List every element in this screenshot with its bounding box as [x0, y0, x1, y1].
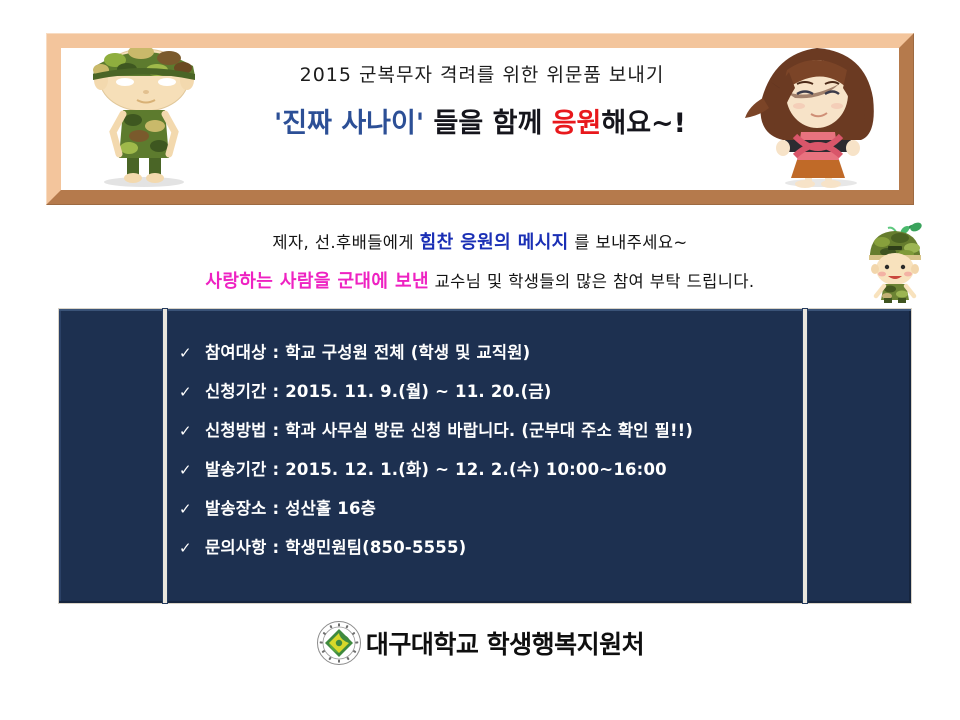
info-box-divider-left	[163, 309, 167, 603]
list-item: ✓ 문의사항 : 학생민원팀(850-5555)	[179, 534, 791, 573]
info-box: ✓ 참여대상 : 학교 구성원 전체 (학생 및 교직원) ✓ 신청기간 : 2…	[58, 308, 912, 604]
banner-line2-post: 해요~!	[601, 108, 686, 139]
list-item: ✓ 참여대상 : 학교 구성원 전체 (학생 및 교직원)	[179, 339, 791, 378]
banner-frame: 2015 군복무자 격려를 위한 위문품 보내기 '진짜 사나이' 들을 함께 …	[46, 33, 914, 205]
list-item-label: 발송기간 : 2015. 12. 1.(화) ~ 12. 2.(수) 10:00…	[205, 456, 667, 480]
check-icon: ✓	[179, 424, 205, 439]
list-item-label: 참여대상 : 학교 구성원 전체 (학생 및 교직원)	[205, 339, 530, 363]
subtitle-line-1-emphasis: 힘찬 응원의 메시지	[420, 232, 569, 253]
subtitle-line-1: 제자, 선.후배들에게 힘찬 응원의 메시지 를 보내주세요~	[0, 228, 960, 254]
list-item: ✓ 신청방법 : 학과 사무실 방문 신청 바랍니다. (군부대 주소 확인 필…	[179, 417, 791, 456]
cartoon-soldier-icon	[79, 48, 209, 188]
banner-line2-quoted: '진짜 사나이'	[274, 108, 424, 139]
soldier-mascot-icon	[858, 222, 932, 304]
list-item-label: 문의사항 : 학생민원팀(850-5555)	[205, 534, 466, 558]
subtitle-block: 제자, 선.후배들에게 힘찬 응원의 메시지 를 보내주세요~ 사랑하는 사람을…	[0, 228, 960, 293]
list-item: ✓ 발송장소 : 성산홀 16층	[179, 495, 791, 534]
cartoon-woman-icon	[743, 48, 893, 188]
list-item-label: 신청기간 : 2015. 11. 9.(월) ~ 11. 20.(금)	[205, 378, 552, 402]
list-item-label: 발송장소 : 성산홀 16층	[205, 495, 376, 519]
banner-line2-highlight: 응원	[552, 108, 602, 139]
subtitle-line-1-post: 를 보내주세요~	[569, 233, 688, 252]
footer: 대구대학교 학생행복지원처	[0, 620, 960, 666]
check-icon: ✓	[179, 463, 205, 478]
banner-line2-mid: 들을 함께	[424, 108, 552, 139]
list-item: ✓ 신청기간 : 2015. 11. 9.(월) ~ 11. 20.(금)	[179, 378, 791, 417]
footer-label: 대구대학교 학생행복지원처	[366, 625, 644, 661]
subtitle-line-2-post: 교수님 및 학생들의 많은 참여 부탁 드립니다.	[429, 272, 755, 291]
check-icon: ✓	[179, 346, 205, 361]
list-item-label: 신청방법 : 학과 사무실 방문 신청 바랍니다. (군부대 주소 확인 필!!…	[205, 417, 693, 441]
info-bullet-list: ✓ 참여대상 : 학교 구성원 전체 (학생 및 교직원) ✓ 신청기간 : 2…	[179, 339, 791, 573]
subtitle-line-2-emphasis: 사랑하는 사람을 군대에 보낸	[205, 271, 429, 292]
info-box-divider-right	[803, 309, 807, 603]
check-icon: ✓	[179, 502, 205, 517]
check-icon: ✓	[179, 541, 205, 556]
subtitle-line-1-pre: 제자, 선.후배들에게	[272, 233, 419, 252]
banner-inner: 2015 군복무자 격려를 위한 위문품 보내기 '진짜 사나이' 들을 함께 …	[61, 48, 899, 190]
check-icon: ✓	[179, 385, 205, 400]
subtitle-line-2: 사랑하는 사람을 군대에 보낸 교수님 및 학생들의 많은 참여 부탁 드립니다…	[0, 267, 960, 293]
list-item: ✓ 발송기간 : 2015. 12. 1.(화) ~ 12. 2.(수) 10:…	[179, 456, 791, 495]
daegu-university-seal-icon	[316, 620, 362, 666]
